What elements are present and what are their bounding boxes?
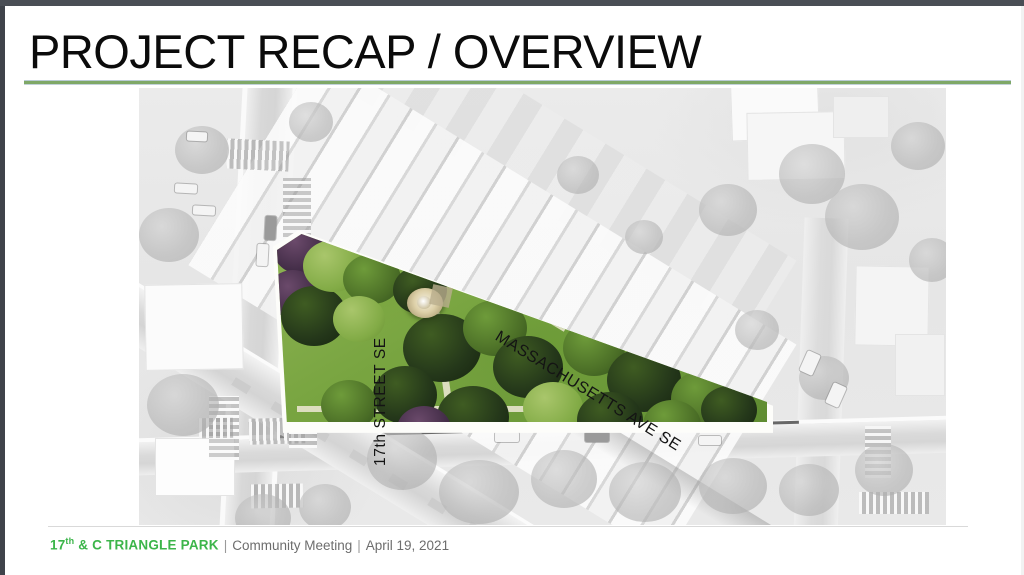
tree-canopy (533, 276, 579, 316)
footer-brand-ordinal: th (65, 536, 74, 546)
footer-project-name: 17th & C TRIANGLE PARK (50, 536, 219, 553)
footer-brand-number: 17 (50, 538, 65, 553)
triangle-park (139, 88, 946, 525)
presentation-slide: PROJECT RECAP / OVERVIEW (0, 0, 1024, 575)
aerial-map-figure: 17th STREET SE 18th STREET SE MASSACHUSE… (139, 88, 946, 525)
footer-divider (48, 526, 968, 527)
footer-date: April 19, 2021 (366, 538, 449, 553)
footer-separator: | (352, 538, 366, 553)
footer-meeting-type: Community Meeting (232, 538, 352, 553)
page-title: PROJECT RECAP / OVERVIEW (29, 28, 701, 75)
tree-canopy (333, 296, 385, 342)
footer-brand-rest: & C TRIANGLE PARK (74, 538, 218, 553)
plaza-paving (429, 284, 453, 308)
window-left-border (0, 6, 5, 575)
title-divider (24, 80, 1011, 85)
footer-separator: | (219, 538, 233, 553)
window-top-border (0, 0, 1024, 6)
tree-canopy (489, 250, 533, 288)
tree-canopy (437, 386, 509, 448)
footer: 17th & C TRIANGLE PARK | Community Meeti… (50, 536, 449, 553)
park-boundary (277, 230, 767, 430)
